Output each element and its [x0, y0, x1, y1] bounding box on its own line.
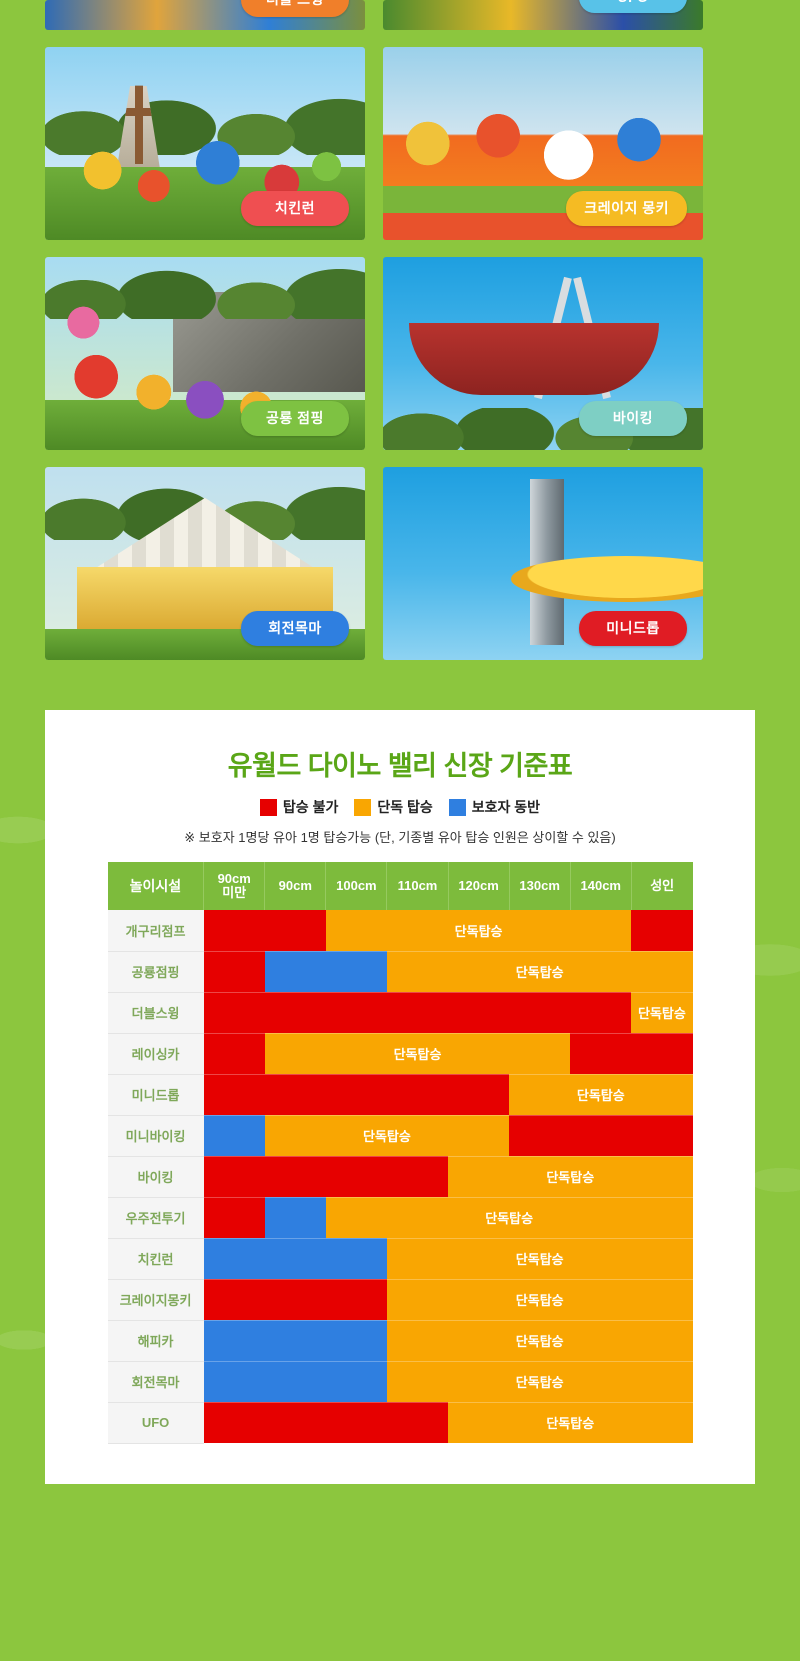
table-cell-guardian [265, 951, 387, 992]
ride-photo-card[interactable]: 공룡 점핑 [45, 257, 365, 450]
table-row: 레이싱카단독탑승 [108, 1033, 693, 1074]
table-cell-alone: 단독탑승 [631, 992, 692, 1033]
table-header-row: 놀이시설 90cm미만 90cm 100cm 110cm 120cm 130cm… [108, 862, 693, 910]
table-cell-no-ride [204, 951, 265, 992]
legend-swatch-blue [449, 799, 466, 816]
legend-label: 탑승 불가 [283, 797, 338, 817]
table-row: UFO단독탑승 [108, 1402, 693, 1443]
ride-caption-badge: 바이킹 [579, 401, 687, 436]
table-cell-alone: 단독탑승 [387, 1279, 693, 1320]
table-cell-no-ride [631, 910, 692, 951]
column-header-140: 140cm [570, 862, 631, 910]
height-chart-panel: 유월드 다이노 밸리 신장 기준표 탑승 불가 단독 탑승 보호자 동반 ※ 보… [45, 710, 755, 1484]
column-header-adult: 성인 [631, 862, 692, 910]
table-row: 회전목마단독탑승 [108, 1361, 693, 1402]
table-cell-no-ride [204, 1197, 265, 1238]
column-header-110: 110cm [387, 862, 448, 910]
table-head: 놀이시설 90cm미만 90cm 100cm 110cm 120cm 130cm… [108, 862, 693, 910]
table-row: 미니드롭단독탑승 [108, 1074, 693, 1115]
table-cell-no-ride [204, 1074, 509, 1115]
row-label-facility: 공룡점핑 [108, 951, 204, 992]
row-label-facility: 더블스윙 [108, 992, 204, 1033]
row-label-facility: 크레이지몽키 [108, 1279, 204, 1320]
table-row: 치킨런단독탑승 [108, 1238, 693, 1279]
table-cell-guardian [204, 1238, 387, 1279]
row-label-facility: 해피카 [108, 1320, 204, 1361]
table-cell-alone: 단독탑승 [326, 910, 631, 951]
ride-caption-badge: 공룡 점핑 [241, 401, 349, 436]
ride-photo-card[interactable]: 바이킹 [383, 257, 703, 450]
table-cell-alone: 단독탑승 [387, 1320, 693, 1361]
ride-caption-badge: 미니드롭 [579, 611, 687, 646]
column-header-under-90: 90cm미만 [204, 862, 265, 910]
table-row: 더블스윙단독탑승 [108, 992, 693, 1033]
ride-photo-card[interactable]: 더블 스윙 [45, 0, 365, 30]
ride-photo-card[interactable]: 회전목마 [45, 467, 365, 660]
ride-caption-badge: 더블 스윙 [241, 0, 349, 17]
height-standard-table: 놀이시설 90cm미만 90cm 100cm 110cm 120cm 130cm… [108, 862, 693, 1444]
ride-photo-card[interactable]: UFO [383, 0, 703, 30]
table-row: 우주전투기단독탑승 [108, 1197, 693, 1238]
row-label-facility: UFO [108, 1402, 204, 1443]
column-header-90: 90cm [265, 862, 326, 910]
ride-caption-badge: 치킨런 [241, 191, 349, 226]
table-row: 해피카단독탑승 [108, 1320, 693, 1361]
table-cell-no-ride [204, 992, 632, 1033]
table-cell-guardian [204, 1115, 265, 1156]
legend-swatch-red [260, 799, 277, 816]
column-header-130: 130cm [509, 862, 570, 910]
table-cell-guardian [204, 1320, 387, 1361]
guardian-note: ※ 보호자 1명당 유아 1명 탑승가능 (단, 기종별 유아 탑승 인원은 상… [45, 827, 755, 846]
ride-photo-card[interactable]: 미니드롭 [383, 467, 703, 660]
legend: 탑승 불가 단독 탑승 보호자 동반 [45, 797, 755, 817]
table-row: 바이킹단독탑승 [108, 1156, 693, 1197]
row-label-facility: 미니드롭 [108, 1074, 204, 1115]
table-cell-guardian [265, 1197, 326, 1238]
ride-photo-gallery: 더블 스윙 UFO 치킨런 크레이지 몽키 [0, 0, 800, 660]
row-label-facility: 바이킹 [108, 1156, 204, 1197]
table-cell-no-ride [570, 1033, 692, 1074]
ride-caption-badge: 크레이지 몽키 [566, 191, 687, 226]
table-row: 미니바이킹단독탑승 [108, 1115, 693, 1156]
table-cell-alone: 단독탑승 [265, 1115, 509, 1156]
table-cell-no-ride [204, 1402, 448, 1443]
table-cell-no-ride [204, 1156, 448, 1197]
table-cell-no-ride [204, 1033, 265, 1074]
legend-swatch-orange [354, 799, 371, 816]
table-cell-alone: 단독탑승 [265, 1033, 570, 1074]
panel-title: 유월드 다이노 밸리 신장 기준표 [45, 744, 755, 783]
table-cell-alone: 단독탑승 [387, 1361, 693, 1402]
ride-photo-card[interactable]: 크레이지 몽키 [383, 47, 703, 240]
table-cell-no-ride [204, 910, 326, 951]
legend-label: 보호자 동반 [472, 797, 540, 817]
page-root: 더블 스윙 UFO 치킨런 크레이지 몽키 [0, 0, 800, 1484]
column-header-facility: 놀이시설 [108, 862, 204, 910]
table-cell-no-ride [509, 1115, 692, 1156]
column-header-100: 100cm [326, 862, 387, 910]
table-cell-no-ride [204, 1279, 387, 1320]
table-cell-alone: 단독탑승 [387, 1238, 693, 1279]
table-cell-alone: 단독탑승 [387, 951, 693, 992]
column-header-120: 120cm [448, 862, 509, 910]
viking-boat [409, 323, 659, 395]
table-body: 개구리점프단독탑승공룡점핑단독탑승더블스윙단독탑승레이싱카단독탑승미니드롭단독탑… [108, 910, 693, 1443]
table-cell-alone: 단독탑승 [326, 1197, 693, 1238]
ride-photo-card[interactable]: 치킨런 [45, 47, 365, 240]
table-cell-alone: 단독탑승 [448, 1156, 692, 1197]
ride-caption-badge: 회전목마 [241, 611, 349, 646]
legend-item-guardian: 보호자 동반 [449, 797, 540, 817]
table-cell-alone: 단독탑승 [509, 1074, 692, 1115]
row-label-facility: 미니바이킹 [108, 1115, 204, 1156]
table-cell-alone: 단독탑승 [448, 1402, 692, 1443]
legend-item-alone: 단독 탑승 [354, 797, 432, 817]
row-label-facility: 개구리점프 [108, 910, 204, 951]
row-label-facility: 우주전투기 [108, 1197, 204, 1238]
table-row: 공룡점핑단독탑승 [108, 951, 693, 992]
row-label-facility: 회전목마 [108, 1361, 204, 1402]
table-row: 크레이지몽키단독탑승 [108, 1279, 693, 1320]
row-label-facility: 치킨런 [108, 1238, 204, 1279]
table-cell-guardian [204, 1361, 387, 1402]
ride-caption-badge: UFO [579, 0, 687, 13]
legend-label: 단독 탑승 [377, 797, 432, 817]
table-row: 개구리점프단독탑승 [108, 910, 693, 951]
row-label-facility: 레이싱카 [108, 1033, 204, 1074]
legend-item-no-ride: 탑승 불가 [260, 797, 338, 817]
